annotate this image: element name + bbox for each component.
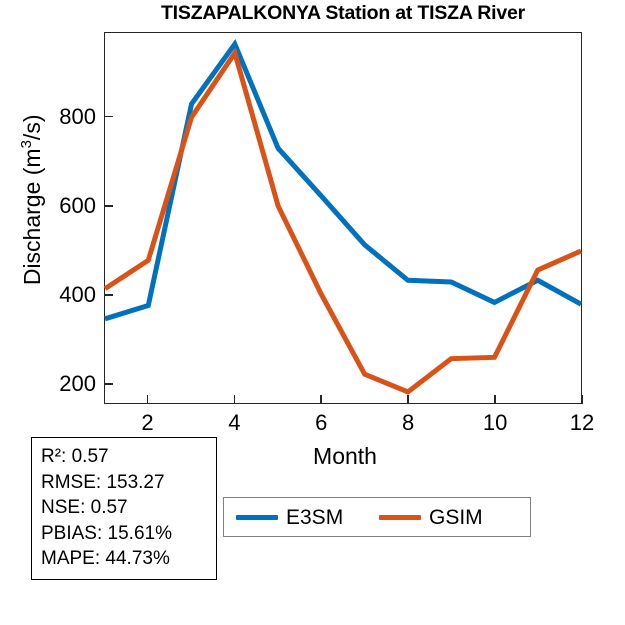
x-tick-label: 10 bbox=[465, 410, 525, 436]
figure-canvas: TISZAPALKONYA Station at TISZA River 200… bbox=[0, 0, 625, 625]
y-axis-label: Discharge (m3/s) bbox=[18, 14, 46, 386]
y-axis-label-exponent: 3 bbox=[18, 140, 35, 148]
y-axis-label-main: Discharge (m bbox=[19, 148, 45, 285]
chart-title: TISZAPALKONYA Station at TISZA River bbox=[104, 2, 582, 25]
x-tick-label-wrap: 2 bbox=[117, 410, 177, 436]
x-tick-label: 2 bbox=[117, 410, 177, 436]
stat-r2: R²: 0.57 bbox=[41, 444, 207, 470]
x-tick-mark bbox=[494, 395, 496, 404]
x-tick-mark bbox=[147, 395, 149, 404]
legend-label-gsim: GSIM bbox=[429, 507, 483, 528]
x-tick-mark bbox=[581, 395, 583, 404]
stat-mape: MAPE: 44.73% bbox=[41, 546, 207, 572]
x-tick-label: 8 bbox=[378, 410, 438, 436]
x-tick-label: 12 bbox=[552, 410, 612, 436]
legend: E3SM GSIM bbox=[223, 497, 531, 537]
x-tick-mark bbox=[407, 395, 409, 404]
y-tick-mark bbox=[104, 205, 113, 207]
x-tick-label: 4 bbox=[204, 410, 264, 436]
stat-nse: NSE: 0.57 bbox=[41, 495, 207, 521]
stat-rmse: RMSE: 153.27 bbox=[41, 470, 207, 496]
x-tick-label-wrap: 10 bbox=[465, 410, 525, 436]
series-line-e3sm bbox=[105, 44, 581, 319]
x-axis-label: Month bbox=[230, 443, 460, 470]
y-tick-mark bbox=[104, 383, 113, 385]
series-plot bbox=[105, 33, 581, 403]
legend-label-e3sm: E3SM bbox=[286, 507, 343, 528]
x-tick-label-wrap: 8 bbox=[378, 410, 438, 436]
x-tick-label: 6 bbox=[291, 410, 351, 436]
y-tick-mark bbox=[104, 116, 113, 118]
statistics-box: R²: 0.57 RMSE: 153.27 NSE: 0.57 PBIAS: 1… bbox=[31, 437, 217, 580]
y-axis-label-tail: /s) bbox=[19, 115, 45, 141]
x-tick-label-wrap: 4 bbox=[204, 410, 264, 436]
stat-pbias: PBIAS: 15.61% bbox=[41, 521, 207, 547]
plot-area bbox=[104, 32, 582, 404]
x-tick-mark bbox=[320, 395, 322, 404]
x-tick-mark bbox=[234, 395, 236, 404]
x-tick-label-wrap: 12 bbox=[552, 410, 612, 436]
legend-swatch-e3sm bbox=[236, 515, 278, 520]
x-tick-label-wrap: 6 bbox=[291, 410, 351, 436]
legend-item-gsim[interactable]: GSIM bbox=[379, 498, 483, 536]
legend-swatch-gsim bbox=[379, 515, 421, 520]
y-tick-mark bbox=[104, 294, 113, 296]
legend-item-e3sm[interactable]: E3SM bbox=[236, 498, 343, 536]
